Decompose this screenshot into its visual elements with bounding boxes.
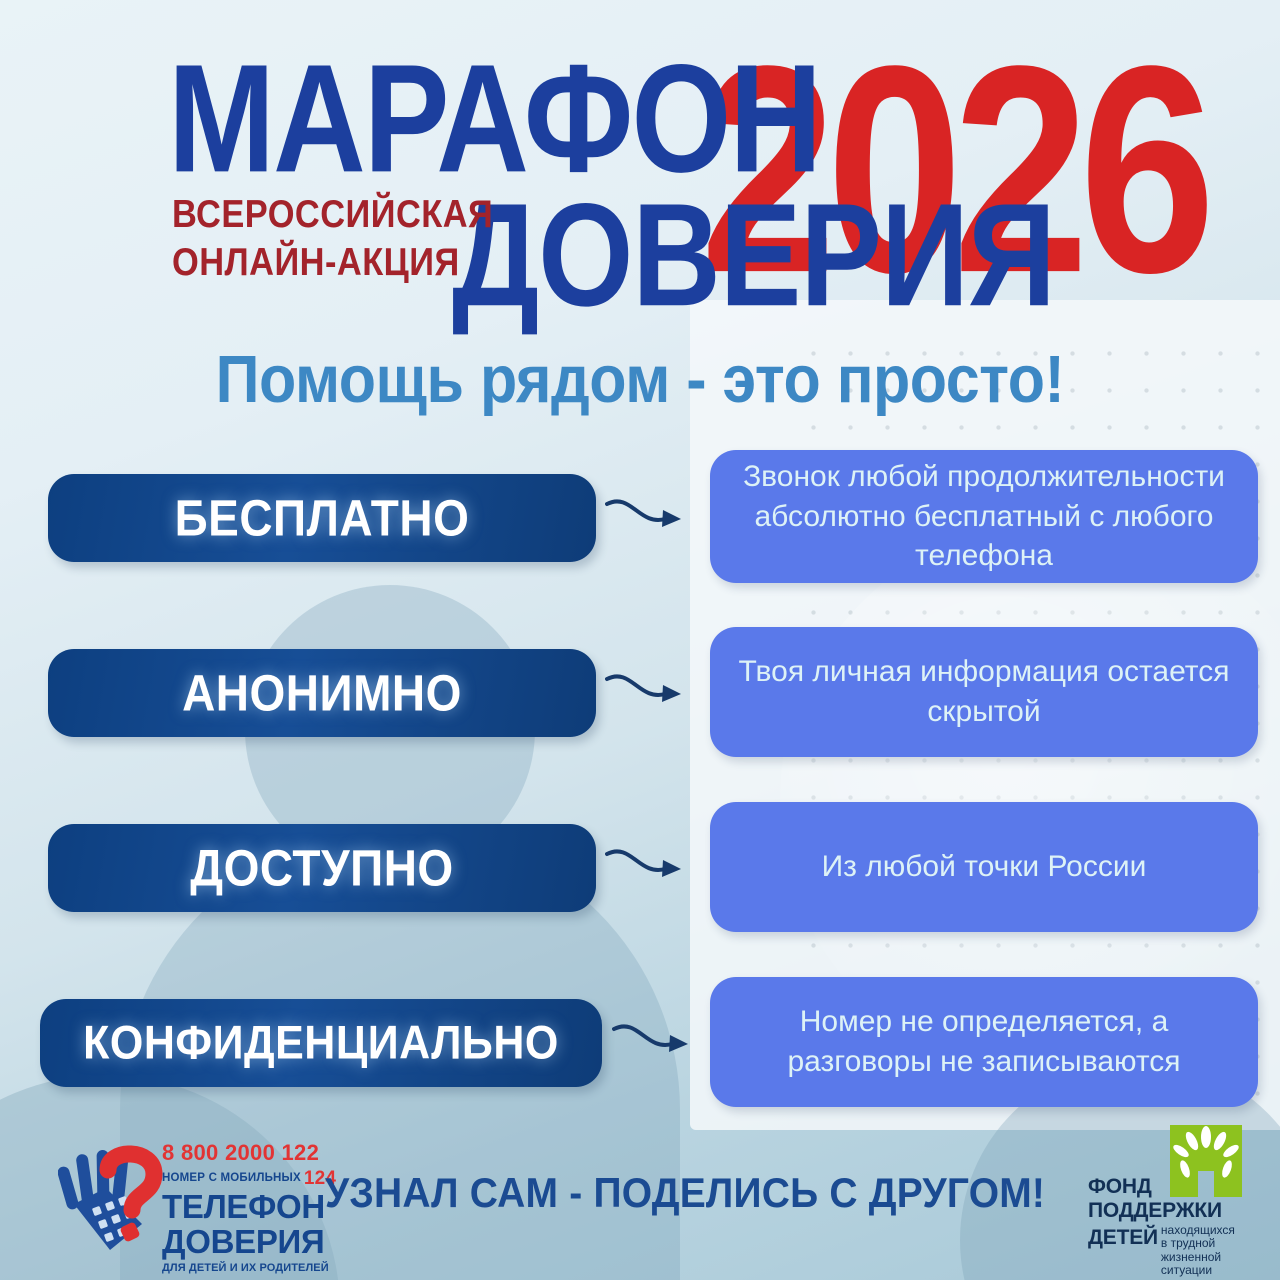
feature-pill-confidential: КОНФИДЕНЦИАЛЬНО: [40, 999, 602, 1087]
helpline-mobile-label: НОМЕР С МОБИЛЬНЫХ: [162, 1172, 301, 1184]
arrow-icon-confidential: [612, 1017, 707, 1069]
feature-pill-available: ДОСТУПНО: [48, 824, 596, 912]
footer-cta-text: УЗНАЛ САМ - ПОДЕЛИСЬ С ДРУГОМ!: [300, 1170, 1070, 1218]
feature-desc-box-confidential: Номер не определяется, а разговоры не за…: [710, 977, 1258, 1107]
fund-subtitle-line-4: ситуации: [1161, 1263, 1212, 1277]
fund-subtitle: находящихся в трудной жизненной ситуации: [1161, 1224, 1235, 1278]
feature-label-free: БЕСПЛАТНО: [175, 488, 470, 547]
kicker-line-2: ОНЛАЙН-АКЦИЯ: [172, 238, 493, 286]
helpline-subtitle: ДЛЯ ДЕТЕЙ И ИХ РОДИТЕЛЕЙ: [162, 1262, 312, 1274]
fund-subtitle-line-3: жизненной: [1161, 1250, 1221, 1264]
kicker-label: ВСЕРОССИЙСКАЯ ОНЛАЙН-АКЦИЯ: [172, 190, 493, 286]
fund-title-line-3: ДЕТЕЙ: [1088, 1227, 1158, 1248]
fund-title-line-1: ФОНД: [1088, 1176, 1278, 1197]
masthead: 2026 МАРАФОН ДОВЕРИЯ ВСЕРОССИЙСКАЯ ОНЛАЙ…: [0, 0, 1280, 330]
tagline: Помощь рядом - это просто!: [0, 341, 1280, 418]
arrow-icon-free: [605, 492, 700, 544]
fund-subtitle-line-1: находящихся: [1161, 1223, 1235, 1237]
feature-desc-available: Из любой точки России: [822, 847, 1147, 887]
feature-pill-anonymous: АНОНИМНО: [48, 649, 596, 737]
feature-label-available: ДОСТУПНО: [190, 838, 453, 897]
feature-desc-confidential: Номер не определяется, а разговоры не за…: [724, 1002, 1244, 1081]
feature-row-free: БЕСПЛАТНО Звонок любой продолжительности…: [0, 452, 1280, 582]
title-word-doveria: ДОВЕРИЯ: [452, 182, 1055, 328]
fund-logo: ФОНД ПОДДЕРЖКИ ДЕТЕЙ находящихся в трудн…: [1088, 1122, 1274, 1272]
helpline-title-line-2: ДОВЕРИЯ: [162, 1226, 312, 1258]
feature-desc-box-available: Из любой точки России: [710, 802, 1258, 932]
arrow-icon-available: [605, 842, 700, 894]
hand-phone-icon: [58, 1140, 166, 1258]
feature-row-available: ДОСТУПНО Из любой точки России: [0, 802, 1280, 932]
feature-desc-anonymous: Твоя личная информация остается скрытой: [724, 652, 1244, 731]
feature-list: БЕСПЛАТНО Звонок любой продолжительности…: [0, 452, 1280, 1152]
arrow-icon-anonymous: [605, 667, 700, 719]
feature-label-confidential: КОНФИДЕНЦИАЛЬНО: [83, 1016, 559, 1070]
helpline-phone-number: 8 800 2000 122: [162, 1142, 312, 1164]
fund-title-row-3: ДЕТЕЙ находящихся в трудной жизненной си…: [1088, 1224, 1278, 1278]
fund-text-block: ФОНД ПОДДЕРЖКИ ДЕТЕЙ находящихся в трудн…: [1088, 1176, 1278, 1278]
footer: 8 800 2000 122 НОМЕР С МОБИЛЬНЫХ124 ТЕЛЕ…: [0, 1120, 1280, 1280]
fund-subtitle-line-2: в трудной: [1161, 1236, 1215, 1250]
feature-label-anonymous: АНОНИМНО: [182, 663, 462, 722]
helpline-logo: 8 800 2000 122 НОМЕР С МОБИЛЬНЫХ124 ТЕЛЕ…: [58, 1132, 308, 1262]
feature-pill-free: БЕСПЛАТНО: [48, 474, 596, 562]
kicker-line-1: ВСЕРОССИЙСКАЯ: [172, 190, 493, 238]
helpline-mobile-line: НОМЕР С МОБИЛЬНЫХ124: [162, 1169, 312, 1188]
feature-desc-box-anonymous: Твоя личная информация остается скрытой: [710, 627, 1258, 757]
feature-desc-free: Звонок любой продолжительности абсолютно…: [724, 457, 1244, 576]
helpline-text-block: 8 800 2000 122 НОМЕР С МОБИЛЬНЫХ124 ТЕЛЕ…: [162, 1142, 312, 1274]
helpline-title-line-1: ТЕЛЕФОН: [162, 1191, 312, 1223]
feature-row-confidential: КОНФИДЕНЦИАЛЬНО Номер не определяется, а…: [0, 977, 1280, 1107]
feature-row-anonymous: АНОНИМНО Твоя личная информация остается…: [0, 627, 1280, 757]
feature-desc-box-free: Звонок любой продолжительности абсолютно…: [710, 450, 1258, 583]
poster-canvas: 2026 МАРАФОН ДОВЕРИЯ ВСЕРОССИЙСКАЯ ОНЛАЙ…: [0, 0, 1280, 1280]
fund-title-line-2: ПОДДЕРЖКИ: [1088, 1200, 1278, 1221]
